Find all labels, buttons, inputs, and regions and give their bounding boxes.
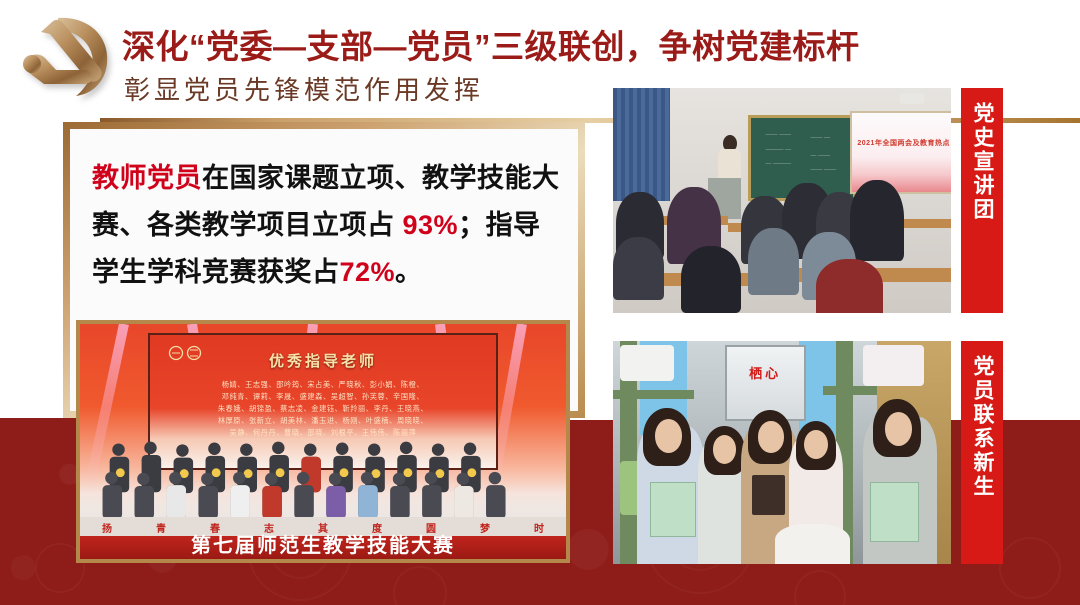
dorm-green-booklet (870, 482, 919, 542)
page-title: 深化“党委—支部—党员”三级联创，争树党建标杆 (122, 20, 860, 68)
sidebar-label-party-members-connect-freshmen[interactable]: 党员联系新生 (961, 341, 1003, 564)
dorm-bedding (863, 345, 924, 385)
classroom-projector-icon (900, 93, 924, 104)
classroom-curtain (613, 88, 670, 201)
dorm-shirt-graphic (752, 475, 786, 515)
dorm-green-booklet (650, 482, 696, 538)
slide-root: 深化“党委—支部—党员”三级联创，争树党建标杆 彰显党员先锋模范作用发挥 教师党… (0, 0, 1080, 605)
award-name-line: 林厚原、张新立、胡美林、潘玉进、杨刚、叶盛楠、周晓晓、 (167, 415, 478, 427)
dorm-foreground-object (775, 524, 849, 564)
dorm-student-head (804, 430, 828, 459)
photo-dorm-visit: 栖心 (613, 341, 951, 564)
photo-award-ceremony: 优秀指导老师 杨婧、王志强、邵吟筠、宋占美、严晓秋、彭小娟、陈橙、 邓纯青、谭莉… (76, 320, 570, 563)
dorm-wall-sign: 栖心 (728, 363, 802, 383)
award-name-line: 邓纯青、谭莉、李晟、盛建森、吴超智、孙芙蓉、辛国隆、 (167, 391, 478, 403)
classroom-backpack (681, 246, 742, 314)
dorm-bunk-frame (613, 390, 694, 399)
vertical-label-text: 党史宣讲团 (967, 102, 997, 222)
award-name-line: 杨婧、王志强、邵吟筠、宋占美、严晓秋、彭小娟、陈橙、 (167, 379, 478, 391)
award-screen-title: 优秀指导老师 (150, 350, 496, 371)
dorm-student-head (713, 435, 737, 464)
dorm-student-head (758, 421, 783, 452)
stat-value-72: 72% (340, 257, 396, 287)
dorm-student-head (885, 412, 912, 445)
dorm-student-head (655, 419, 682, 452)
classroom-projection-text: 2021年全国两会及教育热点 (854, 138, 951, 148)
award-honoree-names: 杨婧、王志强、邵吟筠、宋占美、严晓秋、彭小娟、陈橙、 邓纯青、谭莉、李晟、盛建森… (167, 379, 478, 439)
award-group-photo-people (99, 439, 507, 519)
stat-value-93: 93% (403, 210, 459, 240)
card-line2-post: ； (458, 210, 486, 240)
award-banner-text: 第七届师范生教学技能大赛 (80, 529, 566, 558)
sidebar-label-party-history-lecture-team[interactable]: 党史宣讲团 (961, 88, 1003, 313)
vertical-label-text: 党员联系新生 (967, 355, 997, 499)
card-line3-post: 。 (395, 257, 423, 287)
award-name-line: 朱春娥、胡锦盈、蔡志凌、金建钰、靳羚丽、李丹、王晓燕、 (167, 403, 478, 415)
card-line1-rest: 在国家课题立项、教学技 (202, 163, 505, 193)
classroom-student (850, 180, 904, 261)
teacher-party-member-highlight: 教师党员 (92, 163, 202, 193)
statistics-card-text: 教师党员在国家课题立项、教学技能大赛、各类教学项目立项占 93%；指导学生学科竞… (92, 155, 562, 296)
classroom-projection-screen: 2021年全国两会及教育热点 (850, 111, 951, 194)
page-subtitle: 彰显党员先锋模范作用发挥 (124, 70, 484, 107)
cpc-hammer-sickle-emblem (14, 6, 118, 110)
dorm-bedding (620, 345, 674, 381)
classroom-backpack (816, 259, 884, 313)
classroom-student (748, 228, 799, 296)
photo-classroom-lecture: —— —— ——— — — ——— —— — — —— —— —— 2021年全… (613, 88, 951, 313)
classroom-student (613, 237, 664, 300)
award-name-line: 吴静、何丹丹、曹晓、邵晓、刘根平、王伟伟、陈丽萍 (167, 427, 478, 439)
